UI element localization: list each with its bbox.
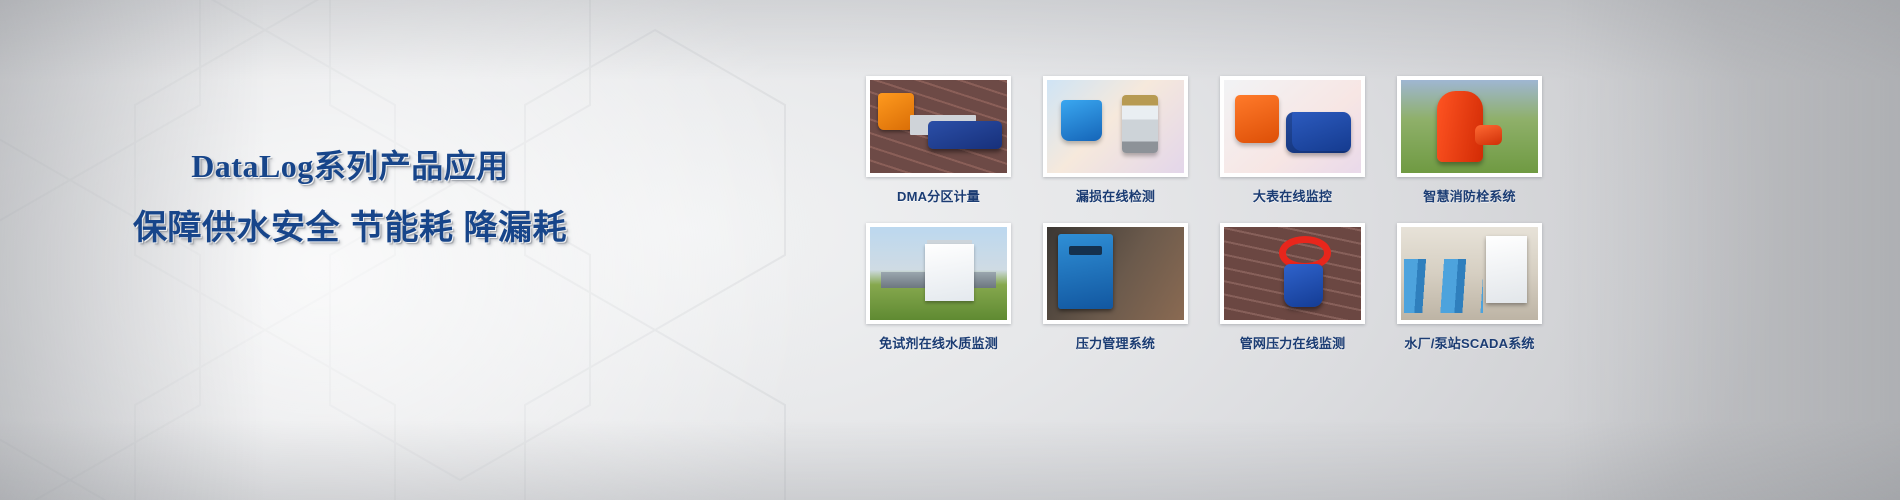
smart-fire-hydrant-system-photo <box>1401 80 1538 173</box>
product-card-dma-zone-metering[interactable]: DMA分区计量 <box>866 76 1011 205</box>
product-application-banner: DataLog系列产品应用 保障供水安全 节能耗 降漏耗 DMA分区计量 漏损在… <box>0 0 1900 500</box>
product-thumbnail-frame[interactable] <box>1043 223 1188 324</box>
product-card-leakage-online-detection[interactable]: 漏损在线检测 <box>1043 76 1188 205</box>
waterworks-pump-station-scada-photo <box>1401 227 1538 320</box>
product-caption: DMA分区计量 <box>897 186 980 205</box>
product-caption: 免试剂在线水质监测 <box>879 333 998 352</box>
reagent-free-water-quality-monitoring-photo <box>870 227 1007 320</box>
banner-headline: DataLog系列产品应用 保障供水安全 节能耗 降漏耗 <box>0 146 700 250</box>
pipe-network-pressure-monitoring-photo <box>1224 227 1361 320</box>
product-caption: 漏损在线检测 <box>1076 186 1155 205</box>
product-caption: 大表在线监控 <box>1253 186 1332 205</box>
product-card-smart-fire-hydrant[interactable]: 智慧消防栓系统 <box>1397 76 1542 205</box>
product-card-pipe-network-pressure[interactable]: 管网压力在线监测 <box>1220 223 1365 352</box>
product-caption: 水厂/泵站SCADA系统 <box>1404 333 1534 352</box>
product-caption: 压力管理系统 <box>1076 333 1155 352</box>
pressure-management-system-photo <box>1047 227 1184 320</box>
headline-line-2: 保障供水安全 节能耗 降漏耗 <box>0 206 700 250</box>
dma-zone-metering-photo <box>870 80 1007 173</box>
product-thumbnail-frame[interactable] <box>1397 76 1542 177</box>
product-thumbnail-frame[interactable] <box>1043 76 1188 177</box>
product-thumbnail-frame[interactable] <box>1397 223 1542 324</box>
leakage-online-detection-photo <box>1047 80 1184 173</box>
product-card-pressure-management[interactable]: 压力管理系统 <box>1043 223 1188 352</box>
product-card-water-quality-monitoring[interactable]: 免试剂在线水质监测 <box>866 223 1011 352</box>
product-card-large-meter-monitoring[interactable]: 大表在线监控 <box>1220 76 1365 205</box>
product-thumbnail-frame[interactable] <box>1220 76 1365 177</box>
product-card-scada-system[interactable]: 水厂/泵站SCADA系统 <box>1397 223 1542 352</box>
product-caption: 智慧消防栓系统 <box>1423 186 1515 205</box>
product-thumbnail-frame[interactable] <box>866 76 1011 177</box>
light-glow-overlay <box>0 0 820 500</box>
product-caption: 管网压力在线监测 <box>1240 333 1346 352</box>
product-grid: DMA分区计量 漏损在线检测 大表在线监控 智慧消防栓系统 免试剂在线水质监测 <box>866 76 1542 352</box>
large-meter-online-monitoring-photo <box>1224 80 1361 173</box>
product-thumbnail-frame[interactable] <box>1220 223 1365 324</box>
headline-line-1: DataLog系列产品应用 <box>0 146 700 186</box>
product-thumbnail-frame[interactable] <box>866 223 1011 324</box>
